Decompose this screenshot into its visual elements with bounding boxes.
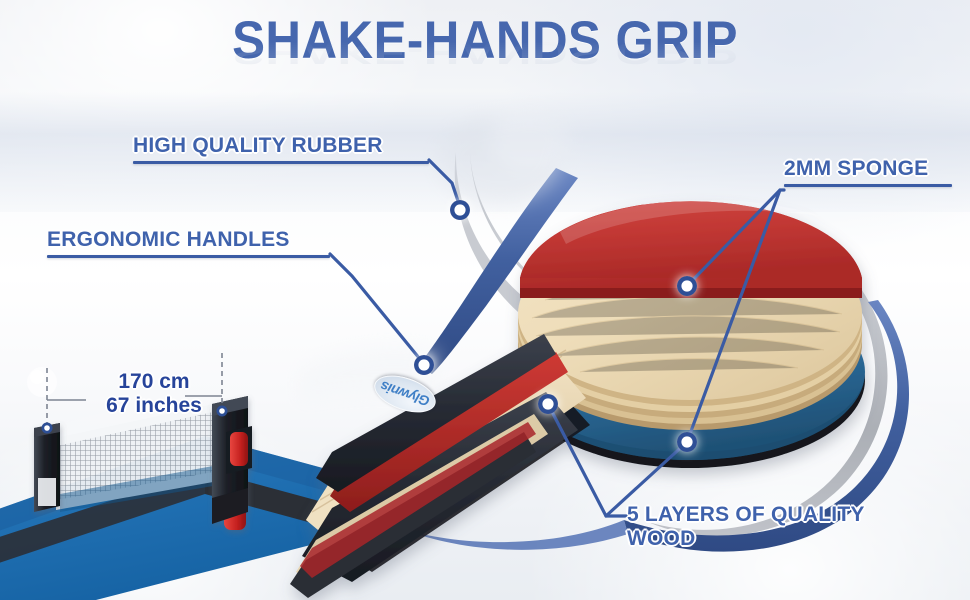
callout-label-2mm-sponge: 2MM SPONGE bbox=[784, 157, 952, 181]
marker-high-quality-rubber bbox=[450, 200, 470, 220]
dimension-metric: 170 cm bbox=[72, 370, 236, 394]
marker-ergonomic-handles bbox=[414, 355, 434, 375]
callout-rule-2mm-sponge bbox=[784, 184, 952, 187]
net-dimension-callout: 170 cm 67 inches bbox=[72, 370, 236, 417]
callout-label-5-layers-quality-wood: 5 LAYERS OF QUALITY WOOD bbox=[627, 503, 865, 550]
callout-label-ergonomic-handles: ERGONOMIC HANDLES bbox=[47, 228, 330, 252]
callout-rule-high-quality-rubber bbox=[133, 161, 429, 164]
dimension-imperial: 67 inches bbox=[72, 394, 236, 418]
callout-ergonomic-handles: ERGONOMIC HANDLES bbox=[47, 228, 330, 258]
callout-rule-ergonomic-handles bbox=[47, 255, 330, 258]
dim-endpoint-left bbox=[42, 423, 53, 434]
infographic-canvas: SHAKE-HANDS GRIP SHAKE-HANDS GRIP bbox=[0, 0, 970, 600]
leader-ergonomic-handles bbox=[330, 254, 424, 364]
leader-high-quality-rubber bbox=[429, 160, 460, 207]
leader-2mm-sponge-a bbox=[687, 190, 784, 286]
marker-bottom-rubber bbox=[677, 432, 697, 452]
leader-wood-a bbox=[548, 404, 627, 516]
marker-2mm-sponge bbox=[677, 276, 697, 296]
callout-markers bbox=[414, 200, 697, 452]
leader-2mm-sponge-b bbox=[687, 190, 780, 442]
callout-5-layers-quality-wood: 5 LAYERS OF QUALITY WOOD bbox=[627, 503, 865, 550]
callout-label-high-quality-rubber: HIGH QUALITY RUBBER bbox=[133, 134, 429, 158]
callout-high-quality-rubber: HIGH QUALITY RUBBER bbox=[133, 134, 429, 164]
marker-wood-plies bbox=[538, 394, 558, 414]
callout-2mm-sponge: 2MM SPONGE bbox=[784, 157, 952, 187]
